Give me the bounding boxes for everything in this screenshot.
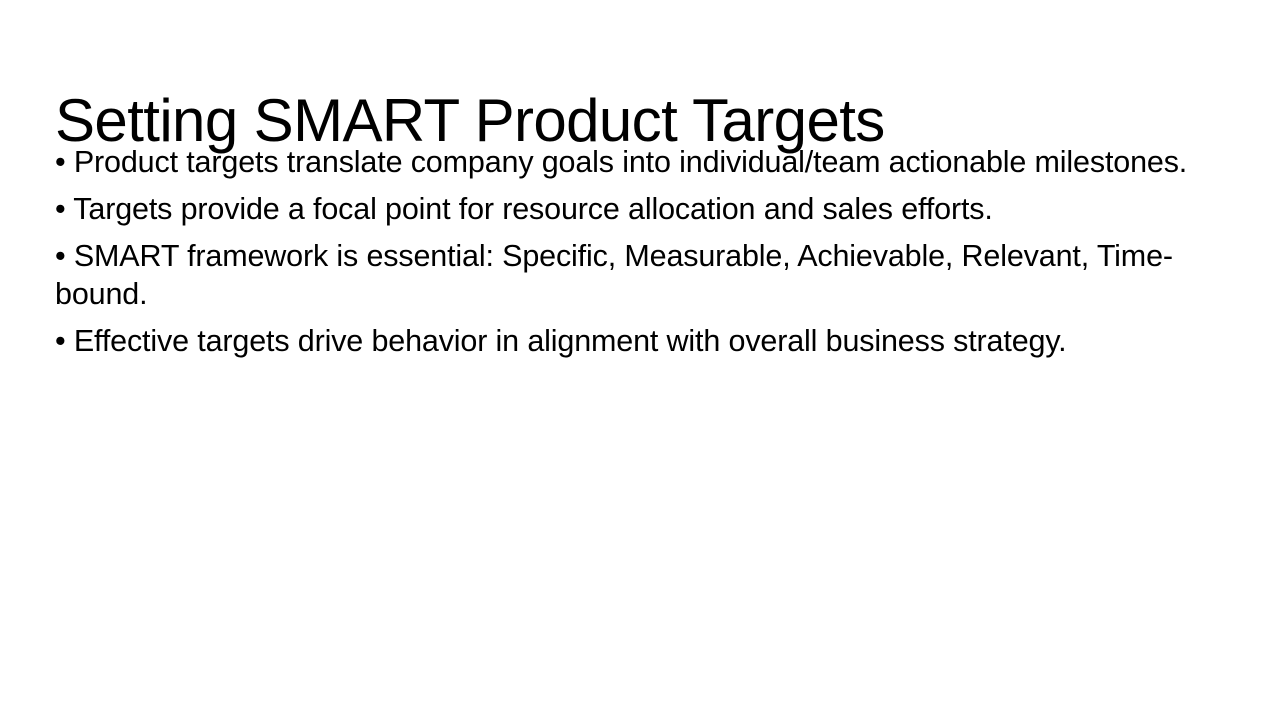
list-item: • Effective targets drive behavior in al… <box>55 322 1215 360</box>
presentation-slide: Setting SMART Product Targets • Product … <box>0 0 1280 720</box>
bullet-list: • Product targets translate company goal… <box>55 143 1215 360</box>
list-item: • SMART framework is essential: Specific… <box>55 237 1215 313</box>
list-item: • Targets provide a focal point for reso… <box>55 190 1215 228</box>
list-item: • Product targets translate company goal… <box>55 143 1215 181</box>
